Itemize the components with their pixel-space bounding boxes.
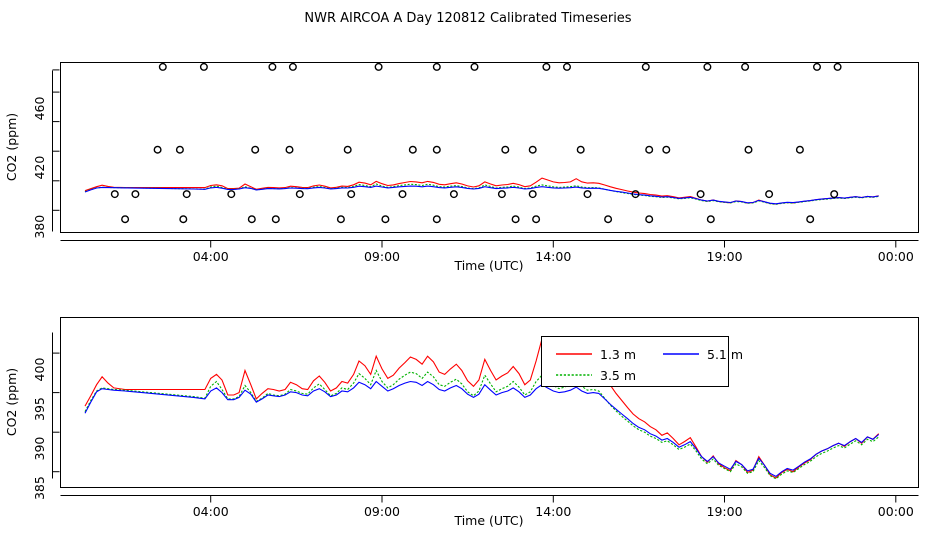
calibration-marker: [112, 191, 119, 198]
calibration-marker: [766, 191, 773, 198]
overview-series-line: [85, 186, 879, 204]
overview-y-axis: 380420460: [32, 70, 60, 239]
overview-y-tick-label: 460: [32, 97, 47, 121]
detail-y-tick-label: 395: [32, 397, 47, 421]
calibration-marker: [434, 216, 441, 223]
calibration-marker: [269, 64, 276, 71]
calibration-marker: [742, 64, 749, 71]
overview-x-tick-label: 09:00: [364, 249, 400, 264]
calibration-marker: [529, 146, 536, 153]
detail-y-ticks: 385390395400: [32, 353, 60, 500]
detail-x-axis-label: Time (UTC): [453, 513, 523, 528]
calibration-marker: [338, 216, 345, 223]
calibration-marker: [831, 191, 838, 198]
calibration-marker: [297, 191, 304, 198]
figure-title: NWR AIRCOA A Day 120812 Calibrated Times…: [304, 11, 631, 26]
calibration-marker: [382, 216, 389, 223]
calibration-marker: [605, 216, 612, 223]
detail-y-tick-label: 390: [32, 437, 47, 461]
detail-y-axis: 385390395400: [32, 333, 60, 501]
overview-x-ticks: 04:0009:0014:0019:0000:00: [193, 241, 914, 265]
overview-x-tick-label: 14:00: [535, 249, 571, 264]
calibration-marker: [434, 146, 441, 153]
calibration-marker: [814, 64, 821, 71]
detail-y-axis-label: CO2 (ppm): [4, 368, 19, 436]
calibration-marker: [410, 146, 417, 153]
calibration-marker: [697, 191, 704, 198]
calibration-marker: [663, 146, 670, 153]
calibration-marker: [154, 146, 161, 153]
plot-page: NWR AIRCOA A Day 120812 Calibrated Times…: [0, 0, 936, 540]
calibration-marker: [228, 191, 235, 198]
overview-x-axis-label: Time (UTC): [453, 258, 523, 273]
calibration-marker: [533, 216, 540, 223]
calibration-marker: [252, 146, 259, 153]
detail-series-line: [85, 339, 879, 478]
calibration-marker: [348, 191, 355, 198]
legend-label-13m: 1.3 m: [600, 347, 636, 362]
calibration-marker: [471, 64, 478, 71]
calibration-marker: [375, 64, 382, 71]
calibration-marker: [399, 191, 406, 198]
calibration-marker: [160, 64, 167, 71]
calibration-marker: [708, 216, 715, 223]
calibration-marker: [434, 64, 441, 71]
figure-canvas: NWR AIRCOA A Day 120812 Calibrated Times…: [0, 0, 936, 540]
calibration-marker: [249, 216, 256, 223]
legend-label-35m: 3.5 m: [600, 368, 636, 383]
legend-label-51m: 5.1 m: [707, 347, 743, 362]
overview-y-tick-label: 380: [32, 215, 47, 239]
detail-plot-frame: [61, 318, 919, 488]
calibration-marker: [502, 146, 509, 153]
detail-x-tick-label: 04:00: [193, 504, 229, 519]
calibration-marker: [132, 191, 139, 198]
calibration-markers-group: [112, 64, 841, 223]
calibration-marker: [577, 146, 584, 153]
calibration-marker: [183, 191, 190, 198]
detail-x-tick-label: 14:00: [535, 504, 571, 519]
calibration-marker: [201, 64, 208, 71]
calibration-marker: [512, 216, 519, 223]
calibration-marker: [122, 216, 129, 223]
detail-series-group: [85, 339, 879, 479]
calibration-marker: [499, 191, 506, 198]
overview-x-tick-label: 19:00: [707, 249, 743, 264]
calibration-marker: [834, 64, 841, 71]
calibration-marker: [564, 64, 571, 71]
detail-x-ticks: 04:0009:0014:0019:0000:00: [193, 496, 914, 520]
detail-x-tick-label: 00:00: [878, 504, 914, 519]
calibration-marker: [584, 191, 591, 198]
calibration-marker: [643, 64, 650, 71]
calibration-marker: [344, 146, 351, 153]
overview-x-tick-label: 00:00: [878, 249, 914, 264]
calibration-marker: [704, 64, 711, 71]
overview-y-tick-label: 420: [32, 156, 47, 180]
overview-series-group: [85, 178, 879, 204]
legend: 1.3 m3.5 m5.1 m: [542, 337, 744, 387]
detail-panel: 385390395400 04:0009:0014:0019:0000:00 1…: [4, 318, 919, 529]
calibration-marker: [543, 64, 550, 71]
overview-y-ticks: 380420460: [32, 70, 60, 239]
detail-x-tick-label: 09:00: [364, 504, 400, 519]
calibration-marker: [180, 216, 187, 223]
calibration-marker: [807, 216, 814, 223]
calibration-marker: [745, 146, 752, 153]
calibration-marker: [451, 191, 458, 198]
calibration-marker: [290, 64, 297, 71]
detail-y-tick-label: 400: [32, 358, 47, 382]
overview-plot-frame: [61, 63, 919, 233]
calibration-marker: [646, 216, 653, 223]
calibration-marker: [177, 146, 184, 153]
overview-panel: 380420460 04:0009:0014:0019:0000:00 Time…: [4, 63, 919, 274]
calibration-marker: [286, 146, 293, 153]
calibration-marker: [646, 146, 653, 153]
calibration-marker: [797, 146, 804, 153]
detail-y-tick-label: 385: [32, 476, 47, 500]
calibration-marker: [273, 216, 280, 223]
detail-x-tick-label: 19:00: [707, 504, 743, 519]
calibration-marker: [529, 191, 536, 198]
detail-series-line: [85, 371, 879, 479]
overview-x-tick-label: 04:00: [193, 249, 229, 264]
overview-y-axis-label: CO2 (ppm): [4, 113, 19, 181]
